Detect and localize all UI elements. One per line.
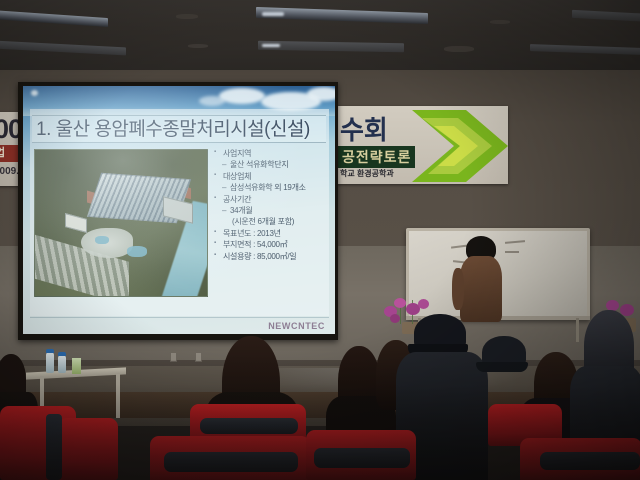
ceiling-vent xyxy=(444,46,474,52)
presenter-arm xyxy=(452,268,464,310)
projection-screen: 1. 울산 용암폐수종말처리시설(신설) xyxy=(18,82,338,340)
projector-hotspot xyxy=(31,90,38,96)
bullet-item: 시설용량 : 85,000㎥/일 xyxy=(214,251,325,262)
water-bottle xyxy=(46,352,54,373)
ceiling-light-fixture xyxy=(572,10,640,22)
bullet-item: 사업지역 xyxy=(214,148,325,159)
ceiling-light-glare xyxy=(262,12,284,16)
whiteboard-writing xyxy=(505,251,519,253)
power-outlet xyxy=(170,352,177,362)
photo-pool xyxy=(127,246,147,257)
orchid-flower xyxy=(418,299,429,309)
water-bottle xyxy=(58,355,66,373)
slide-cloud xyxy=(307,87,335,101)
bullet-item: 공사기간 xyxy=(214,194,325,205)
banner-right-subtitle: 공전략토론 xyxy=(338,146,415,168)
bullet-item: 목표년도 : 2013년 xyxy=(214,228,325,239)
bullet-item: 삼성석유화학 외 19개소 xyxy=(214,182,325,193)
juice-carton xyxy=(72,358,81,374)
whiteboard-writing xyxy=(505,240,525,244)
orchid-flower xyxy=(394,298,406,308)
slide-company-logo: NEWCNTEC xyxy=(268,321,325,331)
cap-brim xyxy=(476,362,528,372)
banner-right-footer: 학교 환경공학과 xyxy=(340,168,394,179)
slide-cloud xyxy=(199,96,225,106)
bottle-cap xyxy=(58,352,66,356)
bullet-item: 대상업체 xyxy=(214,171,325,182)
presentation-slide: 1. 울산 용암폐수종말처리시설(신설) xyxy=(23,86,335,334)
ceiling-light-fixture xyxy=(0,10,108,27)
slide-aerial-photo xyxy=(34,149,208,297)
ceiling-vent xyxy=(188,44,208,48)
ceiling-light-fixture xyxy=(0,41,126,56)
ceiling xyxy=(0,0,640,72)
ceiling-vent xyxy=(490,20,510,24)
bottle-cap xyxy=(46,349,54,353)
ceiling-vent xyxy=(176,14,198,19)
bullet-item: (시운전 6개월 포함) xyxy=(214,216,325,227)
slide-cloud xyxy=(219,88,265,104)
seat-back-panel xyxy=(164,452,298,472)
photo-pool xyxy=(95,236,109,244)
ceiling-light-fixture xyxy=(258,41,404,53)
banner-left-year: 2009. xyxy=(0,166,19,177)
slide-footer-divider xyxy=(30,317,329,318)
ceiling-light-fixture xyxy=(530,44,640,55)
power-outlet xyxy=(195,352,202,362)
slide-title: 1. 울산 용암폐수종말처리시설(신설) xyxy=(36,117,310,142)
banner-right: 수회 공전략토론 학교 환경공학과 xyxy=(336,106,508,184)
seat xyxy=(58,418,118,480)
projection-screen-surface: 1. 울산 용암폐수종말처리시설(신설) xyxy=(23,86,335,334)
seat-back-panel xyxy=(200,418,298,434)
table-leg xyxy=(116,374,120,418)
orchid-flower xyxy=(390,314,400,323)
whiteboard-leg xyxy=(576,318,579,342)
bullet-item: 부지면적 : 54,000㎡ xyxy=(214,239,325,250)
ceiling-light-glare xyxy=(262,44,280,47)
chevron-logo-icon xyxy=(404,108,508,184)
bullet-item: 34개월 xyxy=(214,205,325,216)
banner-right-title: 수회 xyxy=(340,110,388,147)
slide-bullet-list: 사업지역 울산 석유화학단지 대상업체 삼성석유화학 외 19개소 공사기간 3… xyxy=(214,148,325,262)
presenter-body xyxy=(460,256,502,322)
seat-back-panel xyxy=(540,452,640,470)
presentation-room-photo: 00 업 2009. 수회 공전략토론 학교 환경공학과 1. xyxy=(0,0,640,480)
bullet-item: 울산 석유화학단지 xyxy=(214,159,325,170)
seat-back-panel xyxy=(314,448,410,468)
seat-armrest xyxy=(46,414,62,480)
